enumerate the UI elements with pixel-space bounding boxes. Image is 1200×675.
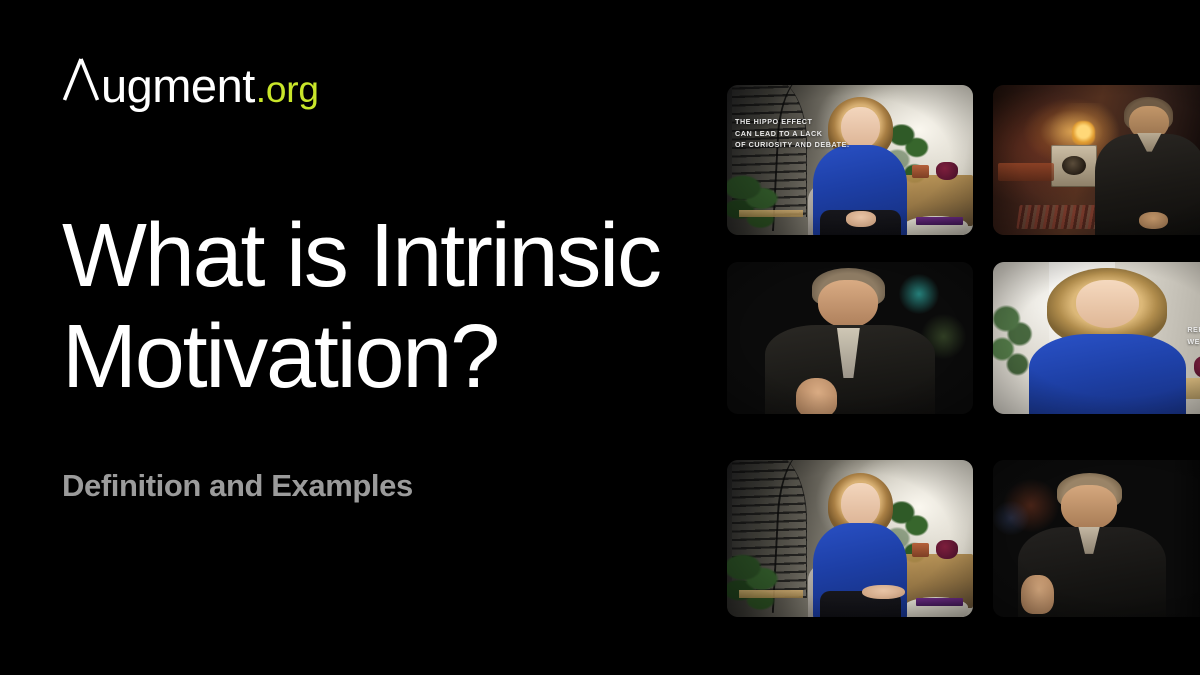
page-title-line-2: Motivation? — [62, 307, 762, 408]
page-title-line-1: What is Intrinsic — [62, 206, 762, 307]
page-title: What is Intrinsic Motivation? — [62, 206, 762, 408]
video-thumbnail-grid: THE HIPPO EFFECT CAN LEAD TO A LACK OF C… — [727, 85, 1200, 620]
thumbnail-image — [727, 85, 973, 235]
caption-line: REFLECT ON — [1187, 324, 1200, 336]
video-thumbnail[interactable]: THE HIPPO EFFECT CAN LEAD TO A LACK OF C… — [727, 85, 973, 235]
video-thumbnail[interactable]: REFLECT ON WE'VE LEARN — [993, 262, 1200, 414]
caption-line: WE'VE LEARN — [1187, 336, 1200, 348]
thumbnail-image — [727, 460, 973, 617]
thumbnail-caption: REFLECT ON WE'VE LEARN — [1187, 324, 1200, 347]
thumbnail-image — [993, 85, 1200, 235]
caption-line: OF CURIOSITY AND DEBATE. — [735, 139, 850, 151]
video-thumbnail[interactable] — [993, 85, 1200, 235]
caption-line: CAN LEAD TO A LACK — [735, 128, 850, 140]
video-thumbnail[interactable] — [727, 262, 973, 414]
video-thumbnail[interactable] — [993, 460, 1200, 617]
thumbnail-caption: THE HIPPO EFFECT CAN LEAD TO A LACK OF C… — [735, 116, 850, 151]
slide-canvas: ugment .org What is Intrinsic Motivation… — [0, 0, 1200, 675]
brand-name: ugment — [101, 62, 255, 109]
page-subtitle: Definition and Examples — [62, 468, 413, 504]
thumbnail-image — [727, 262, 973, 414]
brand-logo[interactable]: ugment .org — [62, 56, 319, 109]
brand-tld: .org — [256, 71, 319, 108]
lambda-a-logomark — [62, 56, 100, 102]
caption-line: THE HIPPO EFFECT — [735, 116, 850, 128]
thumbnail-image — [993, 460, 1200, 617]
video-thumbnail[interactable] — [727, 460, 973, 617]
thumbnail-image — [993, 262, 1200, 414]
